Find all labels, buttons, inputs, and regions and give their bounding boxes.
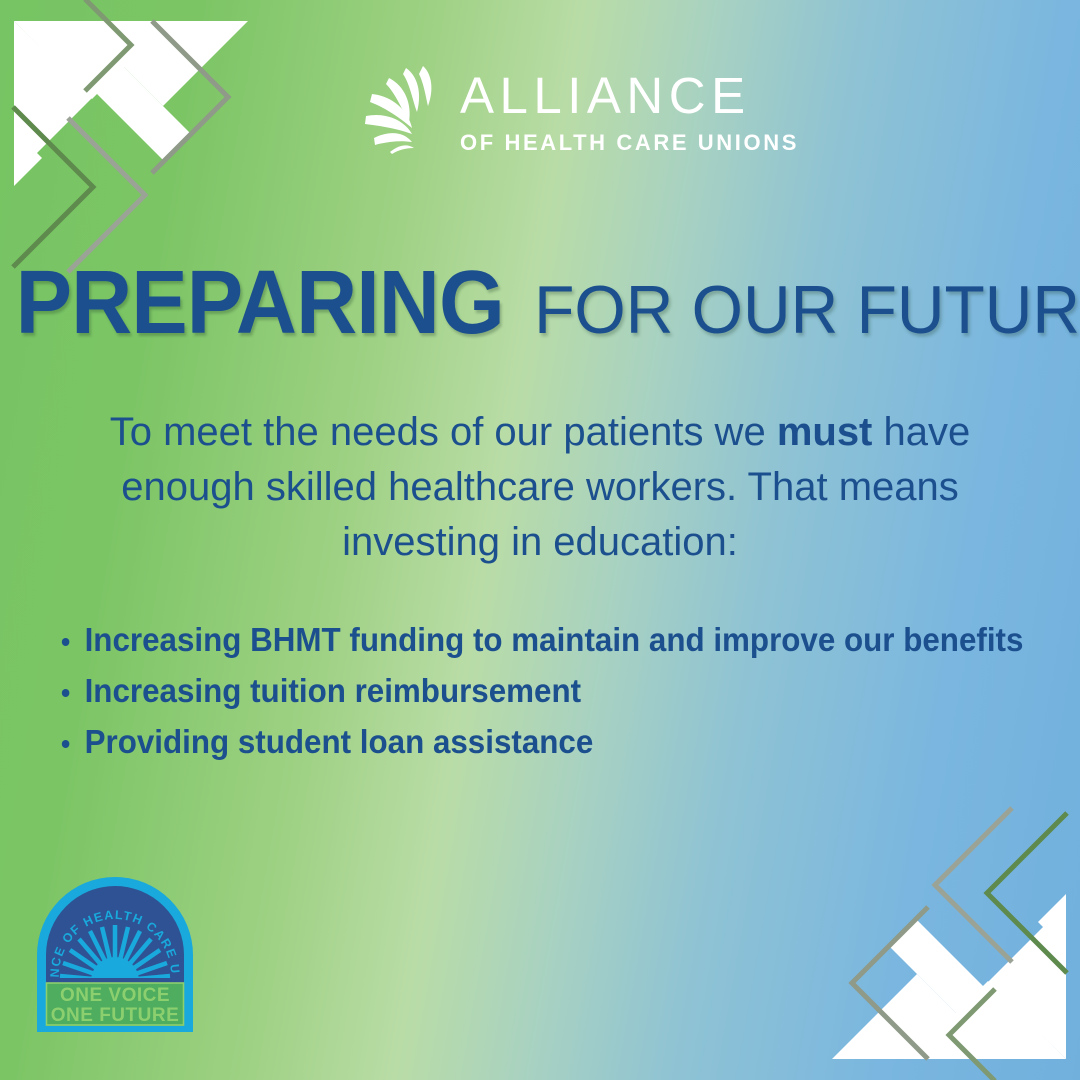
list-item: Providing student loan assistance: [58, 716, 999, 767]
badge-line-1: ONE VOICE: [60, 985, 170, 1006]
logo-name: ALLIANCE: [460, 70, 799, 121]
page-title: PREPARINGFOR OUR FUTURE: [0, 252, 1080, 355]
priorities-list: Increasing BHMT funding to maintain and …: [58, 614, 1048, 767]
decorative-chevrons-bottom-right: [780, 780, 1080, 1080]
intro-emphasis: must: [777, 410, 873, 454]
list-item: Increasing tuition reimbursement: [58, 665, 999, 716]
logo-tagline: OF HEALTH CARE UNIONS: [460, 132, 799, 154]
poster-canvas: ALLIANCE OF HEALTH CARE UNIONS PREPARING…: [0, 0, 1080, 1080]
intro-part-1: To meet the needs of our patients we: [110, 410, 777, 454]
alliance-logo: ALLIANCE OF HEALTH CARE UNIONS: [362, 62, 799, 156]
page-title-strong: PREPARING: [16, 252, 504, 355]
page-title-light: FOR OUR FUTURE: [535, 271, 1080, 349]
one-voice-one-future-badge: ALLIANCE OF HEALTH CARE UNIONS ONE VOICE…: [31, 871, 199, 1038]
badge-line-2: ONE FUTURE: [51, 1005, 180, 1026]
lotus-flower-icon: [362, 64, 448, 156]
intro-paragraph: To meet the needs of our patients we mus…: [50, 405, 1030, 570]
list-item: Increasing BHMT funding to maintain and …: [58, 614, 999, 665]
